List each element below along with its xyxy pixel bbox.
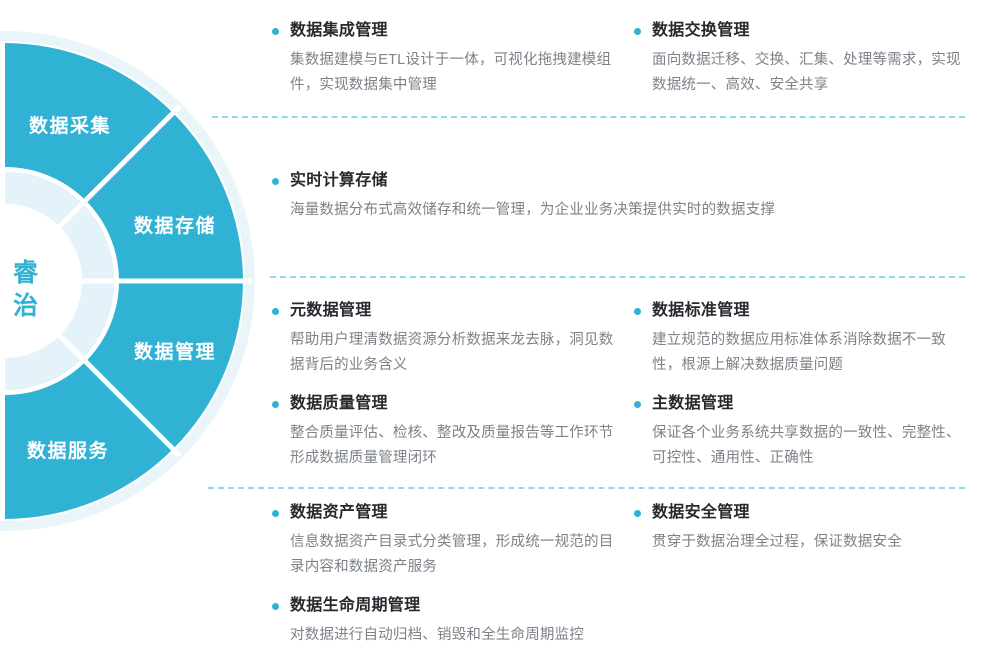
group-data-management: 元数据管理 帮助用户理清数据资源分析数据来龙去脉，洞见数据背后的业务含义 数据标… [0,276,986,487]
item-data-exchange[interactable]: 数据交换管理 面向数据迁移、交换、汇集、处理等需求，实现数据统一、高效、安全共享 [634,20,972,98]
item-head: 数据生命周期管理 [272,595,584,617]
bullet-icon [272,510,279,517]
bullet-icon [634,510,641,517]
item-data-lifecycle-management[interactable]: 数据生命周期管理 对数据进行自动归档、销毁和全生命周期监控 [272,595,584,648]
item-description: 信息数据资产目录式分类管理，形成统一规范的目录内容和数据资产服务 [290,530,620,580]
bullet-icon [272,603,279,610]
item-data-integration[interactable]: 数据集成管理 集数据建模与ETL设计于一体，可视化拖拽建模组件，实现数据集中管理 [272,20,620,98]
item-head: 实时计算存储 [272,170,775,192]
item-description: 海量数据分布式高效储存和统一管理，为企业业务决策提供实时的数据支撑 [290,198,775,223]
item-description: 建立规范的数据应用标准体系消除数据不一致性，根源上解决数据质量问题 [652,328,972,378]
group-data-collection: 数据集成管理 集数据建模与ETL设计于一体，可视化拖拽建模组件，实现数据集中管理… [0,0,986,116]
content-panel: 数据集成管理 集数据建模与ETL设计于一体，可视化拖拽建模组件，实现数据集中管理… [0,0,986,669]
bullet-icon [634,28,641,35]
bullet-icon [634,401,641,408]
item-description: 帮助用户理清数据资源分析数据来龙去脉，洞见数据背后的业务含义 [290,328,620,378]
item-head: 数据集成管理 [272,20,620,42]
bullet-icon [634,308,641,315]
item-head: 数据标准管理 [634,300,972,322]
item-title: 数据安全管理 [652,502,750,524]
item-data-standard-management[interactable]: 数据标准管理 建立规范的数据应用标准体系消除数据不一致性，根源上解决数据质量问题 [634,300,972,378]
item-title: 数据质量管理 [290,393,388,415]
item-realtime-compute-storage[interactable]: 实时计算存储 海量数据分布式高效储存和统一管理，为企业业务决策提供实时的数据支撑 [272,170,775,223]
item-data-security-management[interactable]: 数据安全管理 贯穿于数据治理全过程，保证数据安全 [634,502,902,555]
group-data-storage: 实时计算存储 海量数据分布式高效储存和统一管理，为企业业务决策提供实时的数据支撑 [0,116,986,276]
item-data-quality-management[interactable]: 数据质量管理 整合质量评估、检核、整改及质量报告等工作环节形成数据质量管理闭环 [272,393,620,471]
item-head: 数据质量管理 [272,393,620,415]
item-description: 贯穿于数据治理全过程，保证数据安全 [652,530,902,555]
item-title: 数据集成管理 [290,20,388,42]
item-master-data-management[interactable]: 主数据管理 保证各个业务系统共享数据的一致性、完整性、可控性、通用性、正确性 [634,393,972,471]
item-title: 数据交换管理 [652,20,750,42]
item-description: 集数据建模与ETL设计于一体，可视化拖拽建模组件，实现数据集中管理 [290,48,620,98]
bullet-icon [272,28,279,35]
item-title: 数据生命周期管理 [290,595,420,617]
item-title: 数据资产管理 [290,502,388,524]
item-description: 面向数据迁移、交换、汇集、处理等需求，实现数据统一、高效、安全共享 [652,48,972,98]
item-metadata-management[interactable]: 元数据管理 帮助用户理清数据资源分析数据来龙去脉，洞见数据背后的业务含义 [272,300,620,378]
item-head: 数据资产管理 [272,502,620,524]
bullet-icon [272,401,279,408]
bullet-icon [272,178,279,185]
item-head: 数据安全管理 [634,502,902,524]
bullet-icon [272,308,279,315]
group-data-service: 数据资产管理 信息数据资产目录式分类管理，形成统一规范的目录内容和数据资产服务 … [0,487,986,669]
item-head: 主数据管理 [634,393,972,415]
item-head: 元数据管理 [272,300,620,322]
item-head: 数据交换管理 [634,20,972,42]
item-data-asset-management[interactable]: 数据资产管理 信息数据资产目录式分类管理，形成统一规范的目录内容和数据资产服务 [272,502,620,580]
item-description: 对数据进行自动归档、销毁和全生命周期监控 [290,623,584,648]
item-title: 主数据管理 [652,393,734,415]
item-description: 保证各个业务系统共享数据的一致性、完整性、可控性、通用性、正确性 [652,421,972,471]
item-title: 实时计算存储 [290,170,388,192]
item-title: 元数据管理 [290,300,372,322]
item-description: 整合质量评估、检核、整改及质量报告等工作环节形成数据质量管理闭环 [290,421,620,471]
item-title: 数据标准管理 [652,300,750,322]
